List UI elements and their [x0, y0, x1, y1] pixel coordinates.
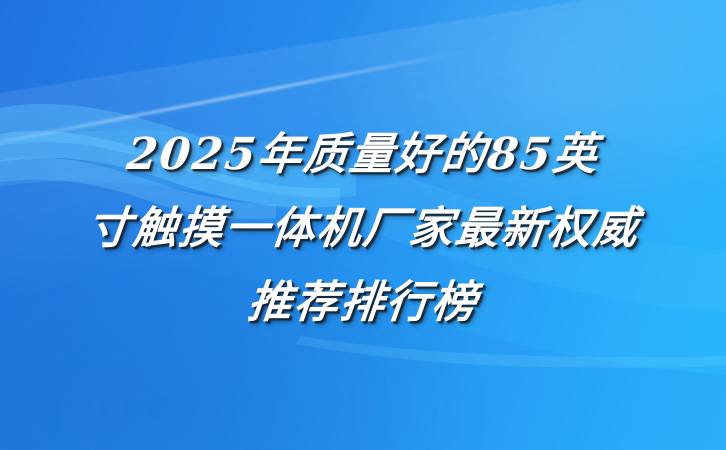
banner-title: 2025年质量好的85英 寸触摸一体机厂家最新权威 推荐排行榜 [0, 0, 726, 450]
promo-banner: 2025年质量好的85英 寸触摸一体机厂家最新权威 推荐排行榜 [0, 0, 726, 450]
title-line-2: 寸触摸一体机厂家最新权威 [83, 192, 643, 266]
title-line-1: 2025年质量好的85英 [123, 118, 602, 192]
title-line-3: 推荐排行榜 [244, 266, 482, 340]
